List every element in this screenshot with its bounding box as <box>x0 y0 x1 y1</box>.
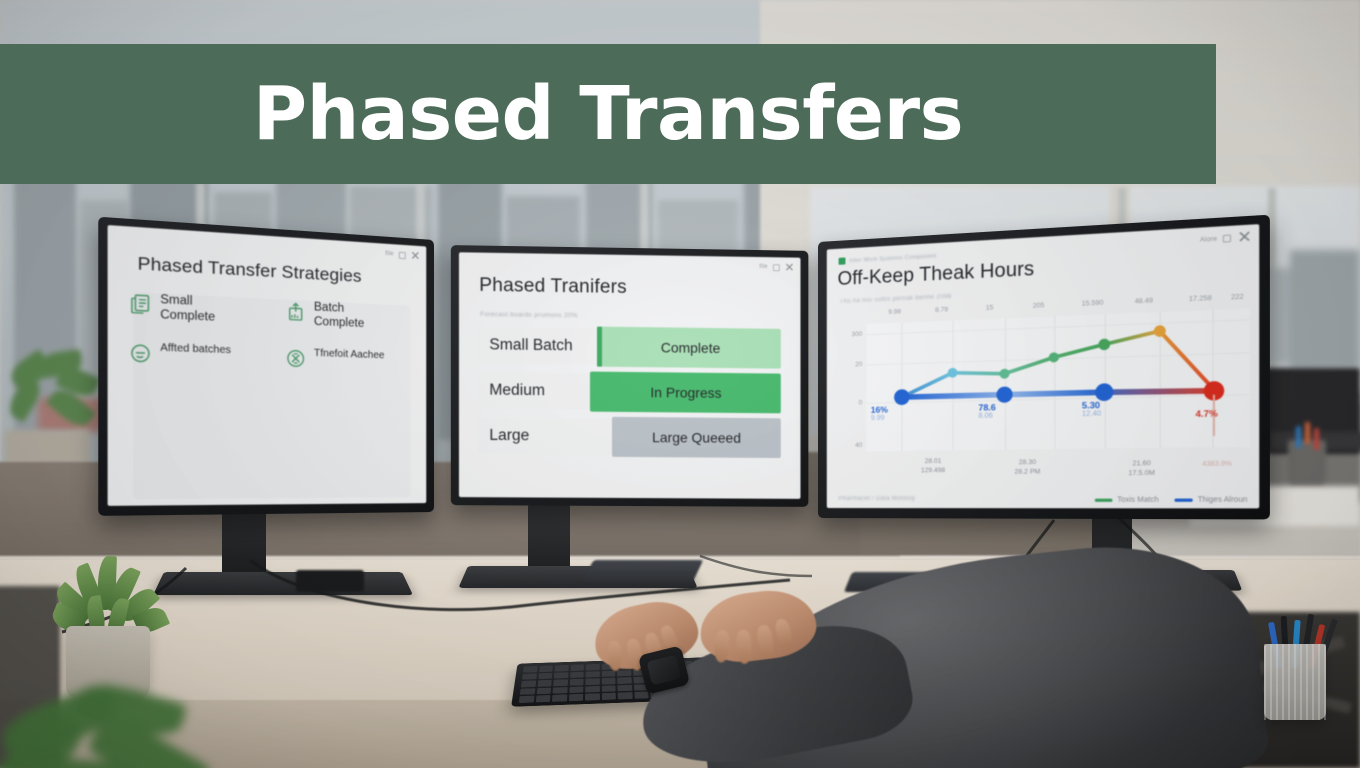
xaxis-bottom-label: 4383.9% <box>1202 460 1232 469</box>
status-bar: Large Queeed <box>612 417 781 458</box>
left-item-tfnefoit-aachee[interactable]: Tfnefoit Aachee <box>285 347 407 374</box>
status-row-medium[interactable]: In Progress Medium <box>477 372 781 411</box>
chart-yaxis: 300 20 0 40 <box>837 324 867 452</box>
left-item-label: Affted batches <box>160 342 231 357</box>
window-menu-label[interactable]: file <box>385 251 393 258</box>
xtick-label: 8.79 <box>935 306 948 314</box>
monitor-left-screen[interactable]: file ✕ Phased Transfer Strategies <box>108 225 427 506</box>
documents-icon <box>128 292 152 317</box>
legend-swatch <box>1175 499 1193 502</box>
monitor-stand-mid-neck <box>528 504 570 574</box>
restore-icon[interactable] <box>1223 235 1231 243</box>
monitor-left[interactable]: file ✕ Phased Transfer Strategies <box>98 217 434 516</box>
ytick-label: 20 <box>855 361 862 368</box>
chart-plot-grid <box>866 308 1250 451</box>
data-label: 4.7% <box>1195 408 1217 419</box>
page-title: Phased Transfers <box>253 71 963 157</box>
ytick-label: 0 <box>859 400 863 407</box>
chart-legend[interactable]: Toxis Match Thiges Alroun <box>1095 496 1247 504</box>
status-bar: In Progress <box>590 372 780 414</box>
foreground-plant <box>0 690 220 768</box>
left-item-small-complete[interactable]: Small Complete <box>128 292 261 327</box>
monitor-mid[interactable]: file ✕ Phased Tranifers Forecast boards … <box>451 245 809 507</box>
data-label: 16% 9.99 <box>871 404 888 422</box>
left-item-label: Tfnefoit Aachee <box>314 348 385 363</box>
shuffle-circle-icon <box>285 347 307 371</box>
close-icon[interactable]: ✕ <box>784 261 794 273</box>
mid-subtitle: Forecast boards prumons 20% <box>480 311 578 319</box>
restore-icon[interactable] <box>773 264 780 271</box>
xaxis-bottom-label: 28.30 28.2 PM <box>1014 459 1040 477</box>
left-item-batch-complete[interactable]: Batch Complete <box>285 300 407 333</box>
xtick-label: 15.590 <box>1082 299 1104 307</box>
status-text: Complete <box>661 339 721 356</box>
desk-device <box>296 570 364 592</box>
data-label: 78.6 8.06 <box>978 402 995 420</box>
left-item-label: Small Complete <box>160 293 215 325</box>
legend-label: Toxis Match <box>1117 496 1159 504</box>
monitor-right[interactable]: Inter Work Systems Component Alore ✕ Off… <box>818 215 1270 520</box>
xaxis-bottom-label: 28.01 129.498 <box>921 458 945 476</box>
window-controls-mid[interactable]: file ✕ <box>759 261 794 273</box>
legend-swatch <box>1095 499 1113 502</box>
monitor-mid-screen[interactable]: file ✕ Phased Tranifers Forecast boards … <box>459 252 801 499</box>
window-menu-label[interactable]: Alore <box>1200 236 1217 244</box>
legend-item[interactable]: Thiges Alroun <box>1175 496 1248 504</box>
xtick-label: 222 <box>1231 293 1244 301</box>
status-text: In Progress <box>650 384 721 401</box>
status-row-small-batch[interactable]: Complete Small Batch <box>477 327 781 367</box>
row-label: Small Batch <box>489 327 572 364</box>
monitor-stand-left-base <box>153 572 413 595</box>
close-icon[interactable]: ✕ <box>410 249 420 262</box>
ytick-label: 300 <box>852 331 863 338</box>
legend-label: Thiges Alroun <box>1198 496 1248 504</box>
pen-cup <box>1264 644 1326 720</box>
left-item-affted-batches[interactable]: Affted batches <box>128 341 261 369</box>
mid-status-list: Complete Small Batch In Progress Medium … <box>477 327 781 465</box>
right-subtitle: Thu na nisi suttis pernak benhe 2098 <box>840 294 952 305</box>
chart-series-svg <box>866 308 1250 443</box>
status-tick-marker <box>597 327 602 367</box>
row-label: Medium <box>489 372 545 409</box>
ytick-label: 40 <box>855 442 862 449</box>
xaxis-bottom-label: 21.60 17.5.0M <box>1128 460 1154 478</box>
left-item-grid: Small Complete <box>128 292 416 392</box>
right-footer-text: Pharmacet / Data Monitoy <box>839 496 916 502</box>
status-text: Large Queeed <box>652 429 741 446</box>
xtick-label: 9.98 <box>888 308 901 316</box>
left-item-label: Batch Complete <box>314 301 364 331</box>
app-logo-icon <box>839 257 846 264</box>
restore-icon[interactable] <box>399 251 406 259</box>
xtick-label: 205 <box>1033 302 1045 310</box>
screenshot-root: file ✕ Phased Transfer Strategies <box>0 0 1360 768</box>
window-menu-label[interactable]: file <box>759 264 767 270</box>
status-bar: Complete <box>600 327 781 369</box>
minus-circle-icon <box>128 341 152 366</box>
window-controls-left[interactable]: file ✕ <box>385 248 420 262</box>
upload-batch-icon <box>285 300 307 324</box>
mid-window-title: Phased Tranifers <box>479 275 627 299</box>
xtick-label: 15 <box>986 304 994 312</box>
left-window-title: Phased Transfer Strategies <box>138 253 362 287</box>
window-controls-right[interactable]: Alore ✕ <box>1200 229 1252 248</box>
close-icon[interactable]: ✕ <box>1237 229 1252 246</box>
monitor-right-screen[interactable]: Inter Work Systems Component Alore ✕ Off… <box>827 224 1259 508</box>
closed-laptop <box>583 560 704 582</box>
right-app-badge: Inter Work Systems Component <box>839 252 937 265</box>
status-row-large[interactable]: Large Queeed Large <box>477 418 781 456</box>
app-label: Inter Work Systems Component <box>849 253 936 264</box>
legend-item[interactable]: Toxis Match <box>1095 496 1159 504</box>
chart-area[interactable]: 9.98 8.79 15 205 15.590 48.49 17.258 222… <box>837 293 1250 474</box>
title-banner: Phased Transfers <box>0 44 1216 184</box>
row-label: Large <box>489 418 529 455</box>
background-pen-cup <box>1288 440 1326 484</box>
xtick-label: 17.258 <box>1189 295 1212 304</box>
monitor-stand-left-neck <box>222 508 266 580</box>
data-label: 5.30 12.40 <box>1082 400 1101 418</box>
xtick-label: 48.49 <box>1135 297 1153 305</box>
